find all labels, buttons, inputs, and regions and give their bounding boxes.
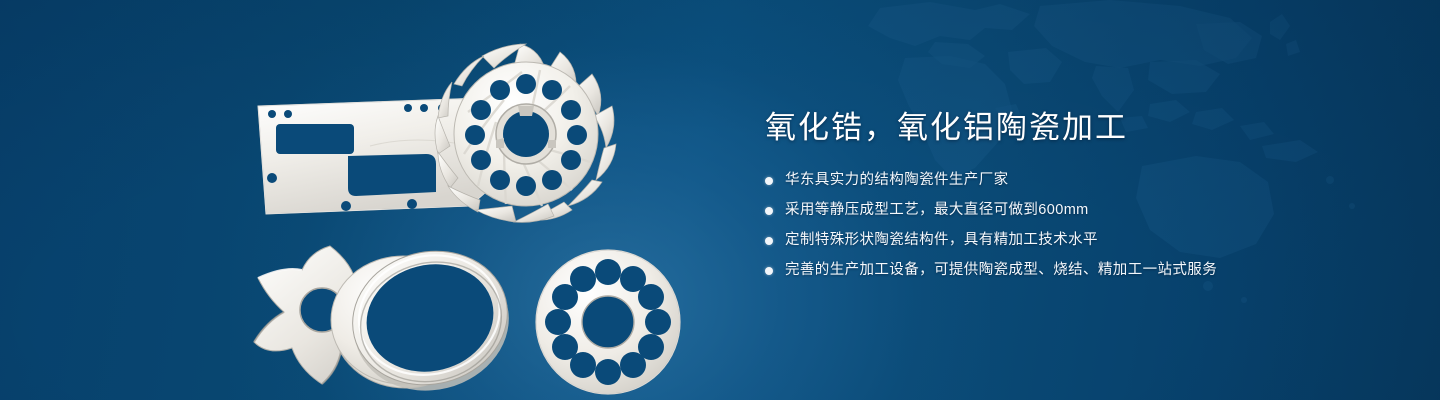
banner-headline: 氧化锆，氧化铝陶瓷加工 [765,106,1385,150]
list-item: 采用等静压成型工艺，最大直径可做到600mm [765,200,1385,221]
feature-text: 定制特殊形状陶瓷结构件，具有精加工技术水平 [785,230,1098,251]
feature-text: 华东具实力的结构陶瓷件生产厂家 [785,170,1009,191]
feature-text: 完善的生产加工设备，可提供陶瓷成型、烧结、精加工一站式服务 [785,260,1217,281]
bullet-dot-icon [765,267,773,275]
list-item: 华东具实力的结构陶瓷件生产厂家 [765,170,1385,191]
feature-list: 华东具实力的结构陶瓷件生产厂家 采用等静压成型工艺，最大直径可做到600mm 定… [765,170,1385,281]
list-item: 定制特殊形状陶瓷结构件，具有精加工技术水平 [765,230,1385,251]
list-item: 完善的生产加工设备，可提供陶瓷成型、烧结、精加工一站式服务 [765,260,1385,281]
bullet-dot-icon [765,237,773,245]
banner-copy: 氧化锆，氧化铝陶瓷加工 华东具实力的结构陶瓷件生产厂家 采用等静压成型工艺，最大… [765,106,1385,290]
promo-banner: 氧化锆，氧化铝陶瓷加工 华东具实力的结构陶瓷件生产厂家 采用等静压成型工艺，最大… [0,0,1440,400]
feature-text: 采用等静压成型工艺，最大直径可做到600mm [785,200,1089,221]
bullet-dot-icon [765,177,773,185]
bullet-dot-icon [765,207,773,215]
